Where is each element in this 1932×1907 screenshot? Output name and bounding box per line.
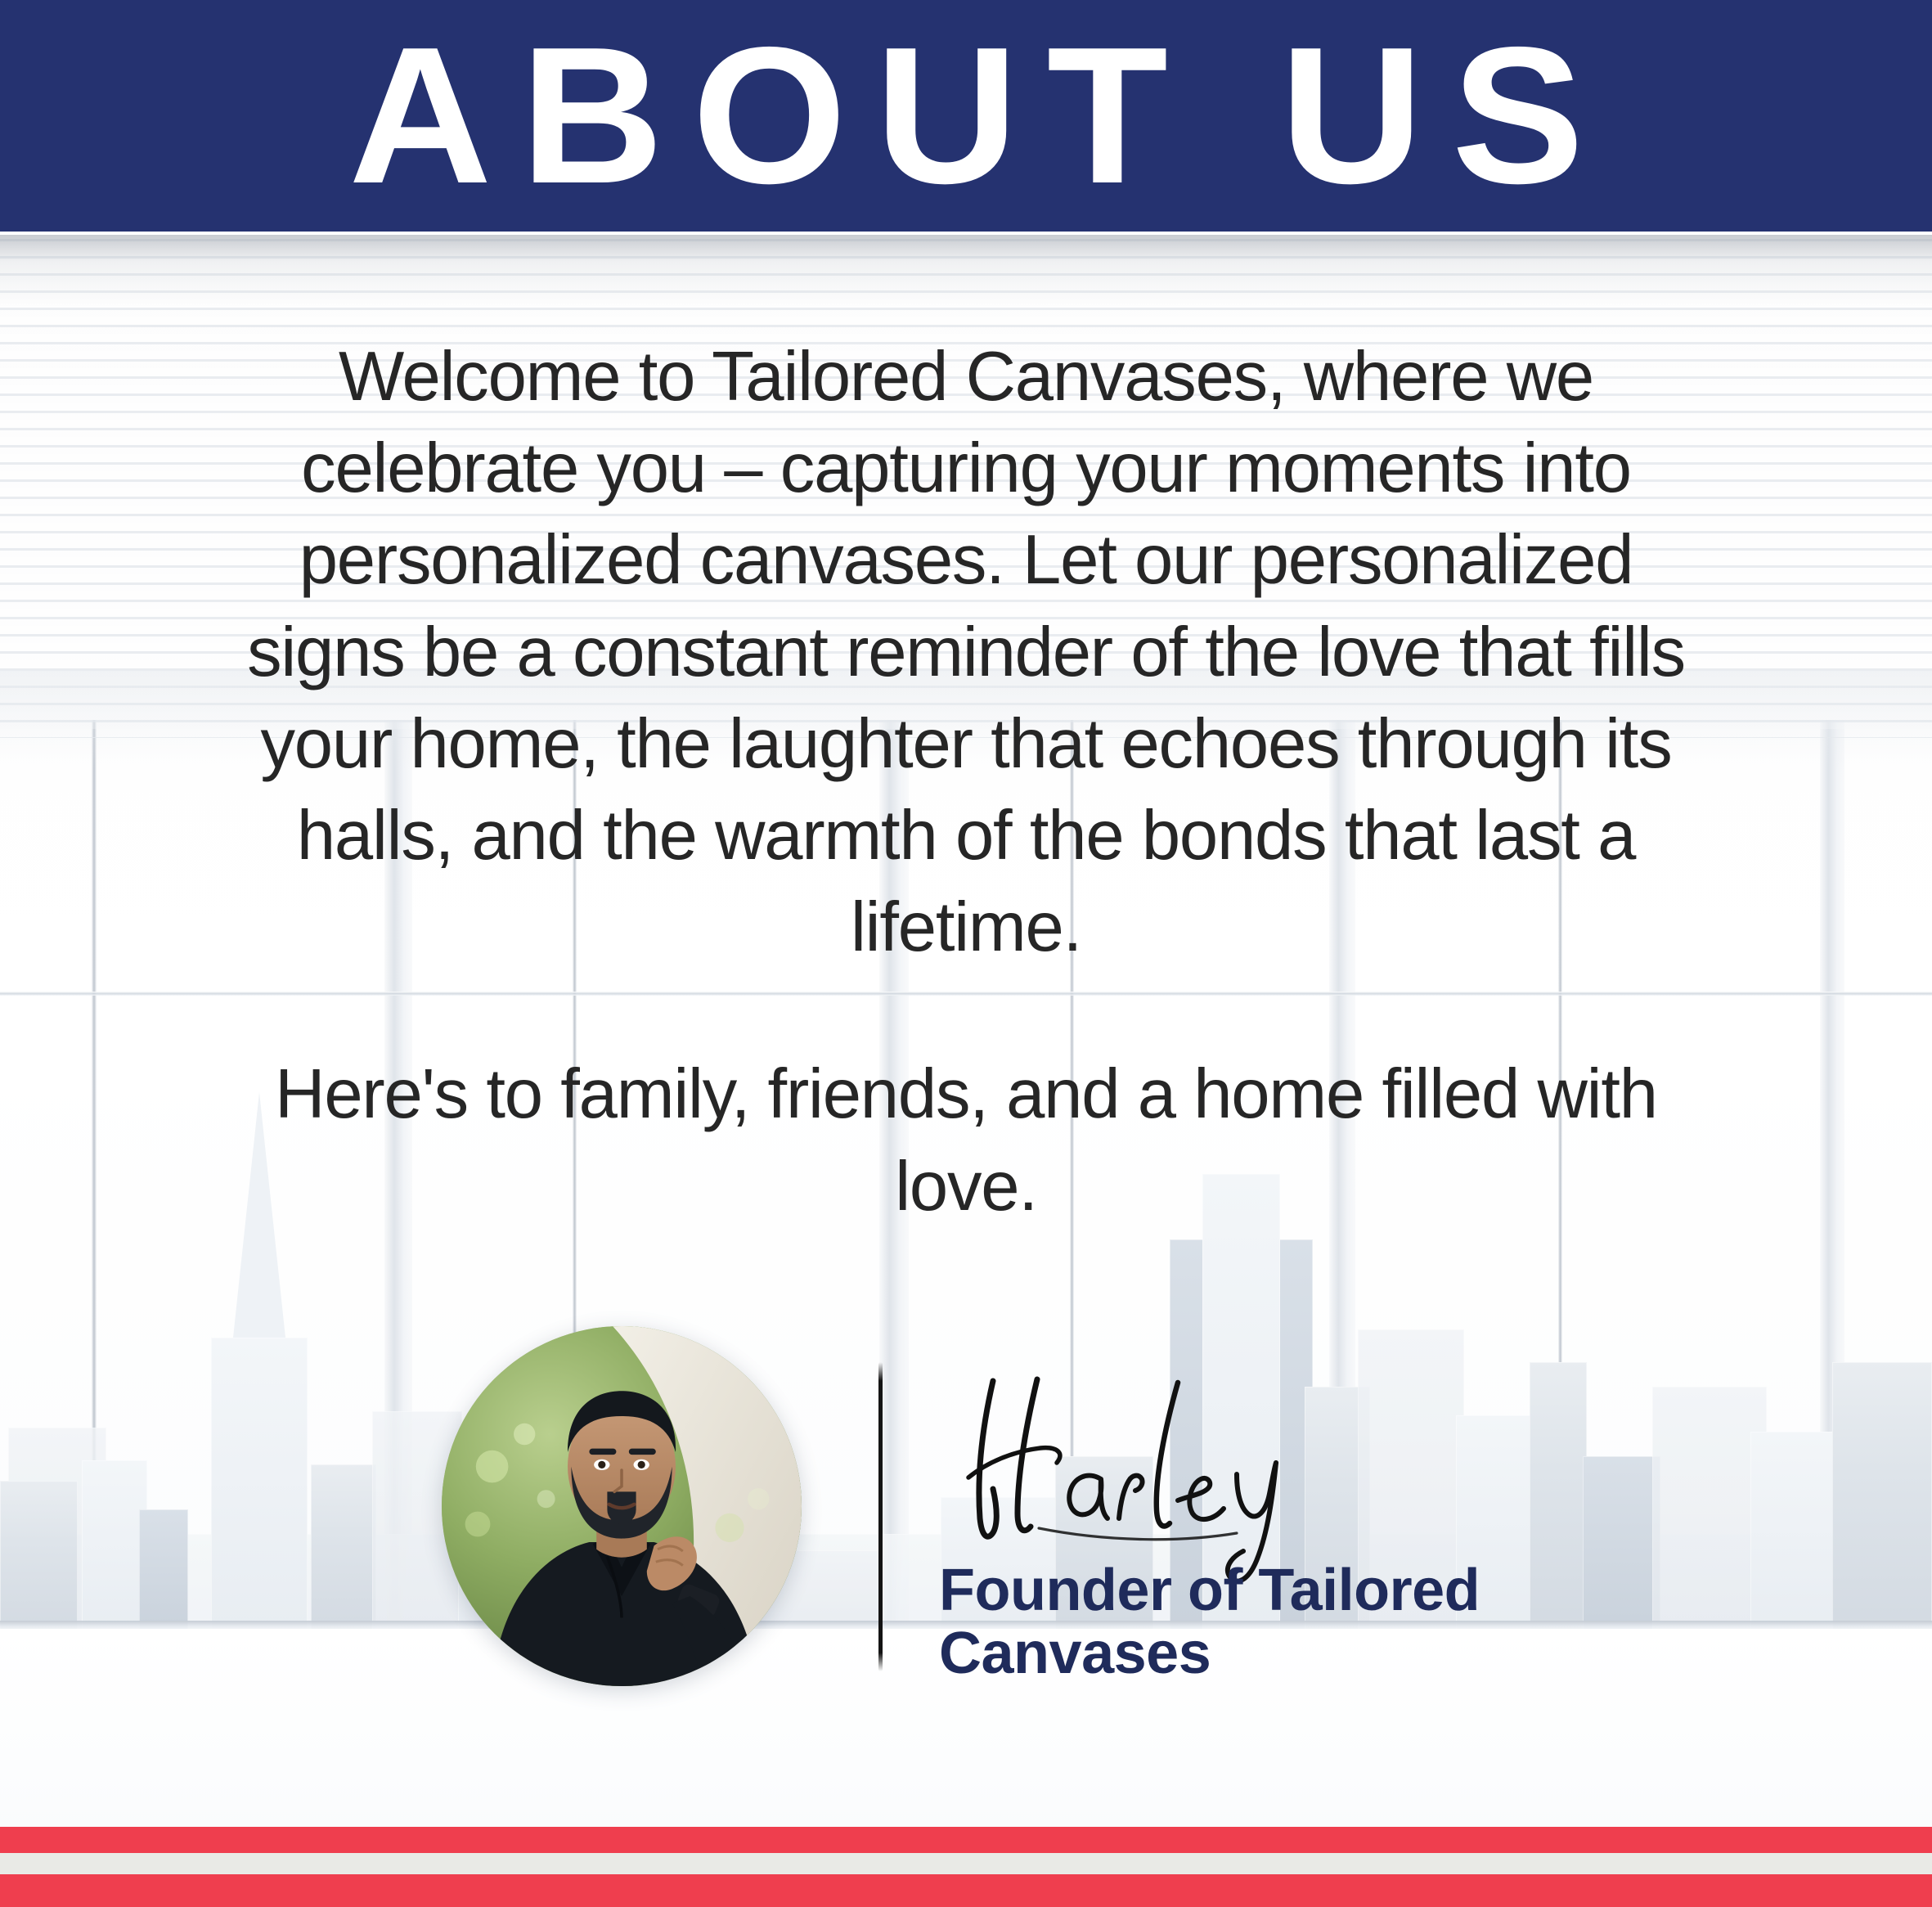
header-underline [0,232,1932,235]
footer-stripe-bottom [0,1874,1932,1907]
page-title: ABOUT US [320,19,1612,214]
about-paragraph-2: Here's to family, friends, and a home fi… [246,1049,1686,1232]
founder-signature-block: Founder of Tailored Canvases [0,1285,1932,1711]
about-paragraph-1: Welcome to Tailored Canvases, where we c… [246,331,1686,974]
page-header: ABOUT US [0,0,1932,232]
about-us-poster: ABOUT US Welcome to Tailored Canvases, w… [0,0,1932,1907]
paragraph-spacer [246,974,1686,1049]
about-us-copy: Welcome to Tailored Canvases, where we c… [246,331,1686,1233]
footer-stripe-gap [0,1853,1932,1874]
founder-title-line-1: Founder of Tailored [939,1559,1587,1623]
signature-divider [878,1362,883,1671]
avatar [442,1326,802,1686]
header-drop-shadow [0,232,1932,306]
footer-stripe-top [0,1827,1932,1853]
harley-signature [932,1366,1554,1587]
signature-text-group: Founder of Tailored Canvases [916,1366,1587,1687]
founder-title-line-2: Canvases [939,1622,1587,1686]
founder-title: Founder of Tailored Canvases [939,1559,1587,1687]
